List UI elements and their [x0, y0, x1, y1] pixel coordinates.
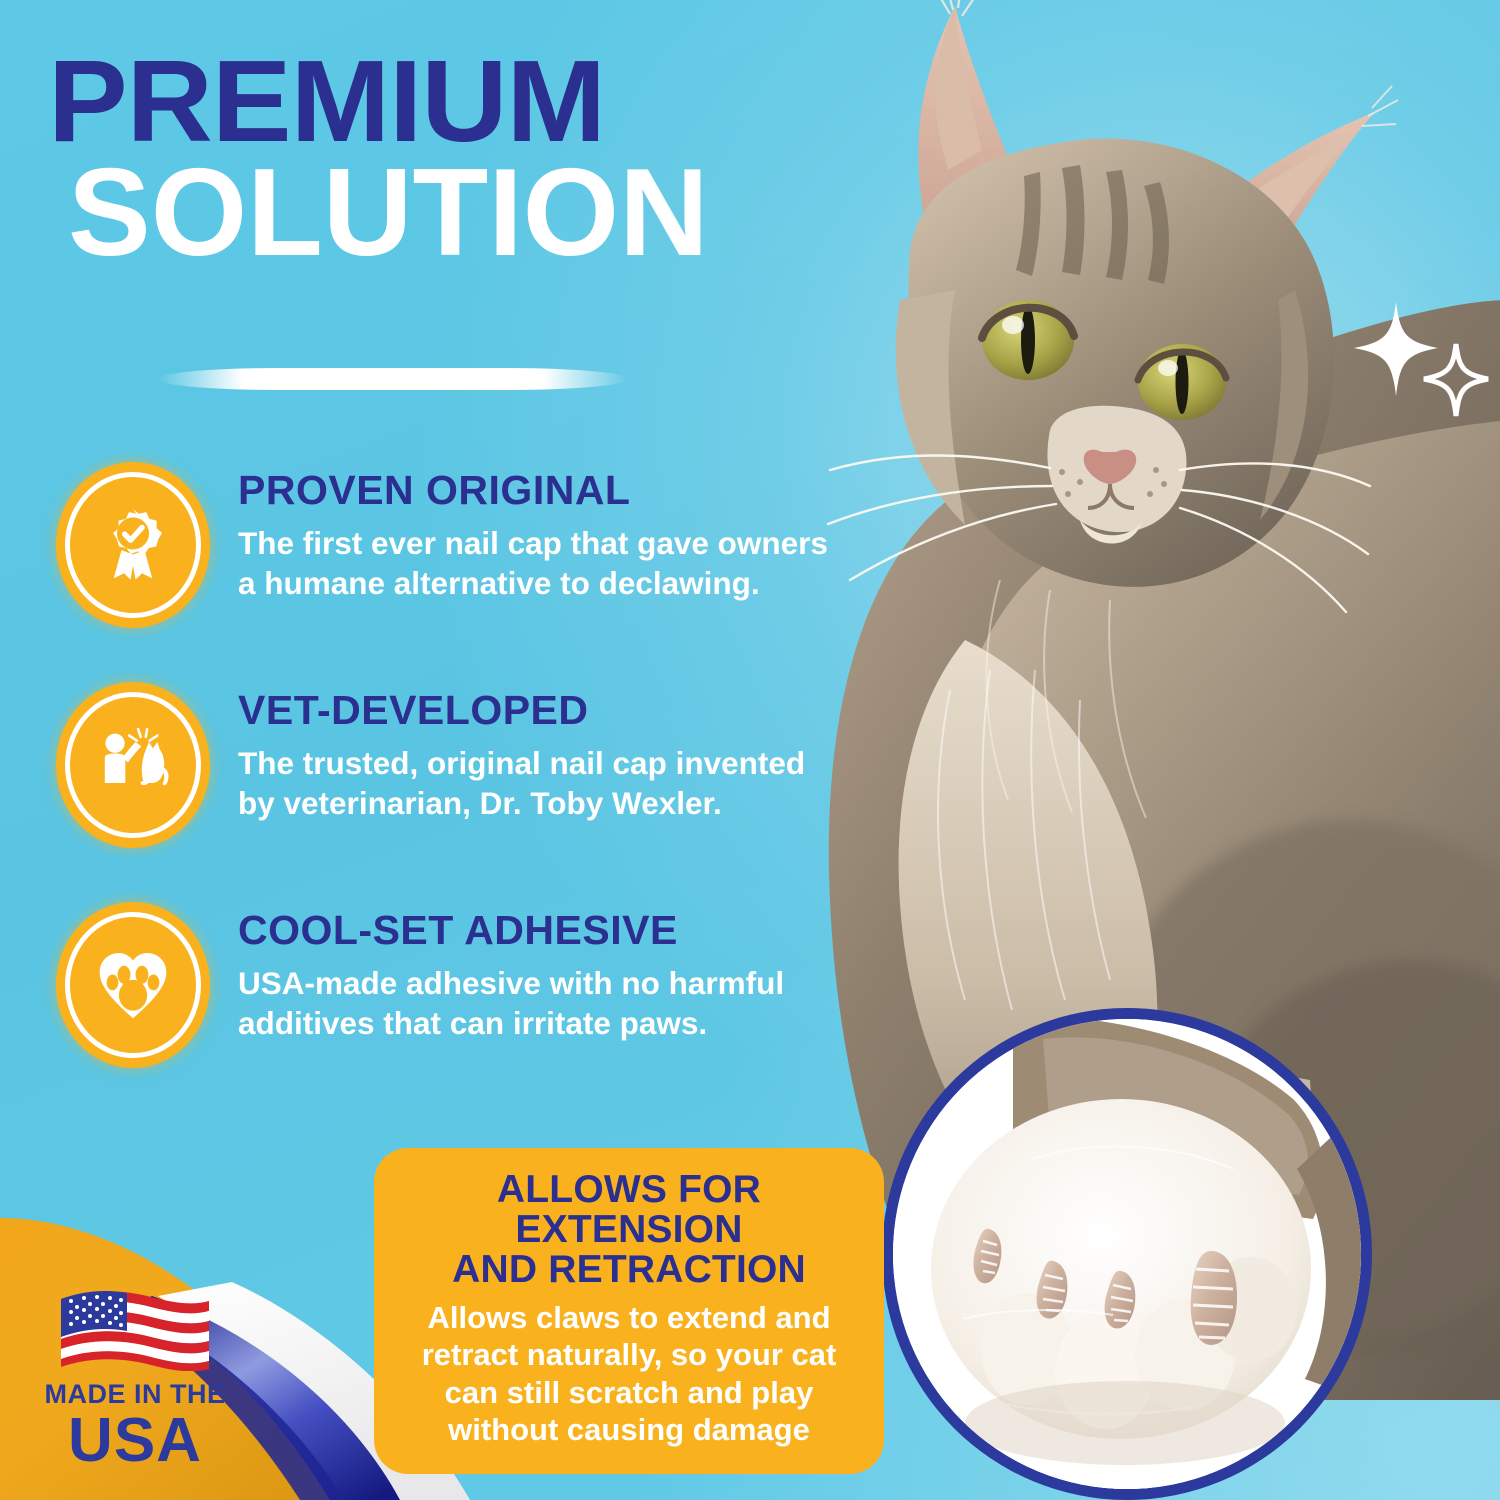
- sparkle-stars-icon: [1348, 300, 1498, 420]
- callout-title-line-2: AND RETRACTION: [400, 1250, 858, 1290]
- feature-list: PROVEN ORIGINAL The first ever nail cap …: [56, 462, 846, 1122]
- feature-item: COOL-SET ADHESIVE USA-made adhesive with…: [56, 902, 846, 1068]
- headline-line-2: SOLUTION: [68, 158, 858, 270]
- feature-description: The first ever nail cap that gave owners…: [238, 523, 838, 603]
- veterinarian-high-five-cat-icon: [56, 682, 210, 848]
- feature-description: The trusted, original nail cap invented …: [238, 743, 838, 823]
- callout-title-line-1: ALLOWS FOR EXTENSION: [400, 1170, 858, 1250]
- usa-badge-line-1: MADE IN THE: [30, 1381, 240, 1408]
- feature-item: VET-DEVELOPED The trusted, original nail…: [56, 682, 846, 848]
- feature-title: COOL-SET ADHESIVE: [238, 910, 838, 951]
- product-infographic: PREMIUM SOLUTION PROVEN ORIGINAL The fir…: [0, 0, 1500, 1500]
- feature-description: USA-made adhesive with no harmful additi…: [238, 963, 838, 1043]
- callout-body: Allows claws to extend and retract natur…: [400, 1299, 858, 1448]
- usa-badge-line-2: USA: [30, 1410, 240, 1472]
- headline-line-1: PREMIUM: [48, 52, 882, 152]
- usa-flag-icon: [59, 1287, 211, 1371]
- feature-item: PROVEN ORIGINAL The first ever nail cap …: [56, 462, 846, 628]
- award-ribbon-check-icon: [56, 462, 210, 628]
- headline-underline-swoosh: [158, 368, 628, 390]
- cat-paw-with-nail-caps-magnifier: [882, 1008, 1372, 1500]
- heart-paw-print-icon: [56, 902, 210, 1068]
- extension-retraction-callout: ALLOWS FOR EXTENSION AND RETRACTION Allo…: [374, 1148, 884, 1474]
- page-title: PREMIUM SOLUTION: [48, 52, 858, 269]
- feature-title: VET-DEVELOPED: [238, 690, 838, 731]
- feature-title: PROVEN ORIGINAL: [238, 470, 838, 511]
- made-in-usa-badge: MADE IN THE USA: [30, 1287, 240, 1472]
